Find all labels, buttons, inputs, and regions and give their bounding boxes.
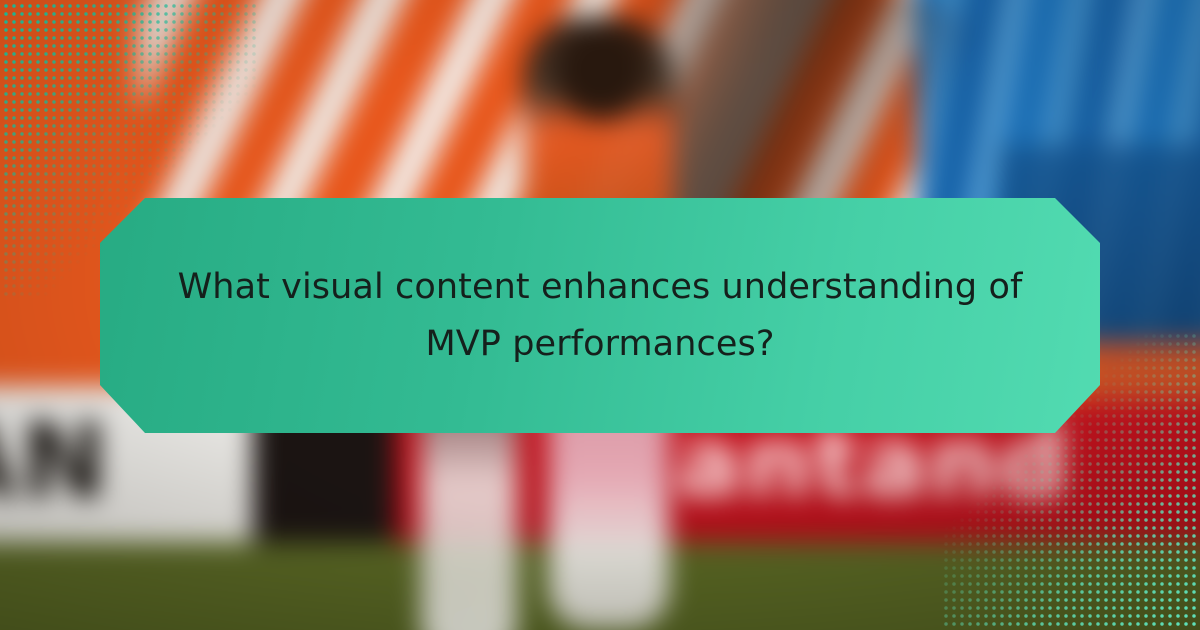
question-text: What visual content enhances understandi…: [100, 259, 1100, 372]
social-card-canvas: antand AN What visual content enhances u…: [0, 0, 1200, 630]
question-card: What visual content enhances understandi…: [100, 198, 1100, 433]
